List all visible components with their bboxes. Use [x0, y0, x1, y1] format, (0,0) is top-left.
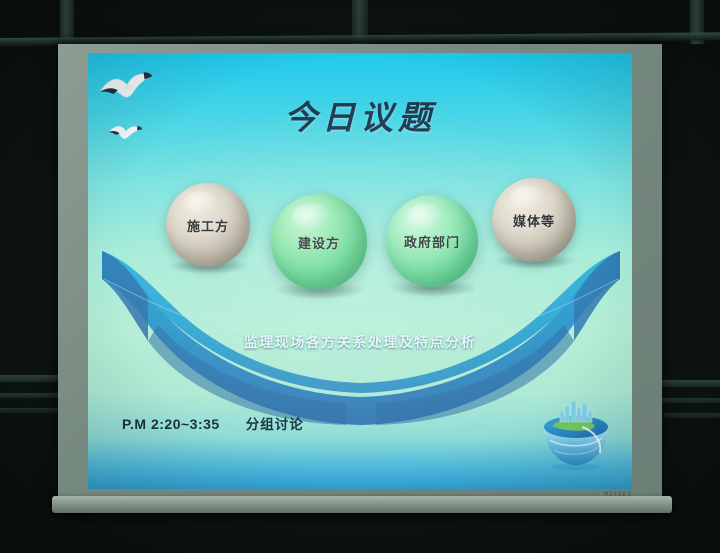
slide-footer: P.M 2:20~3:35 分组讨论 [122, 413, 304, 433]
slide-title: 今日议题 [88, 91, 632, 139]
projection-screen-unit: M1YEE1 今日议题 [58, 44, 662, 500]
sphere-label: 媒体等 [513, 211, 555, 230]
sphere-label: 建设方 [298, 233, 340, 252]
footer-activity-text: 分组讨论 [246, 413, 304, 433]
footer-time-text: P.M 2:20~3:35 [122, 416, 220, 432]
sphere-government[interactable]: 政府部门 [386, 195, 478, 287]
sphere-label: 政府部门 [404, 232, 460, 251]
projected-slide: 今日议题 [88, 53, 632, 489]
sphere-contractor[interactable]: 施工方 [166, 183, 250, 267]
room-scene: M1YEE1 今日议题 [0, 0, 720, 553]
sphere-highlight [292, 204, 330, 231]
wall-ledge-right-3 [664, 413, 720, 418]
sphere-highlight [184, 191, 218, 215]
sphere-highlight [510, 186, 544, 210]
wall-ledge-right-2 [660, 398, 720, 403]
wall-ledge-left-1 [0, 375, 62, 382]
slide-caption: 监理现场各方关系处理及特点分析 [88, 332, 632, 352]
wall-post-left [60, 0, 74, 40]
sphere-developer[interactable]: 建设方 [271, 194, 367, 290]
sphere-label: 施工方 [187, 216, 229, 235]
wall-ledge-left-2 [0, 393, 62, 398]
sphere-highlight [406, 204, 443, 230]
sphere-media[interactable]: 媒体等 [492, 178, 576, 262]
screen-weight-bar [52, 496, 672, 513]
globe-city-icon [538, 397, 614, 471]
wall-ledge-left-3 [0, 408, 58, 413]
wall-ledge-right-1 [660, 380, 720, 387]
